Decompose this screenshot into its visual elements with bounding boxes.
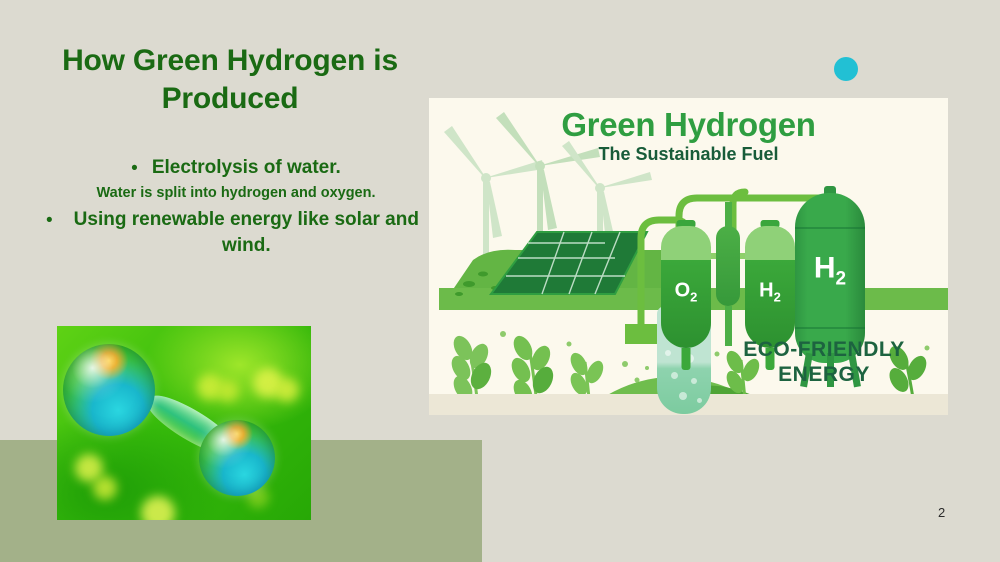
accent-dot — [834, 57, 858, 81]
tank-seam — [795, 227, 865, 229]
tank-stem — [682, 348, 691, 370]
mid-tank — [716, 226, 740, 306]
bullet-list: • Electrolysis of water. Water is split … — [46, 155, 426, 260]
tank-label: O2 — [661, 280, 711, 303]
molecule-sphere — [63, 344, 155, 436]
bullet-text: Using renewable energy like solar and wi… — [67, 207, 426, 258]
bullet-subtext: Water is split into hydrogen and oxygen. — [46, 184, 426, 204]
green-hydrogen-infographic: O2 H2 H2 Green Hydrogen The Sustainable … — [429, 98, 948, 415]
background-blob — [217, 380, 239, 402]
bubble — [671, 372, 678, 379]
infographic-tagline: ECO-FRIENDLY ENERGY — [729, 338, 919, 388]
bubble — [679, 392, 687, 400]
slide-canvas: How Green Hydrogen is Produced • Electro… — [0, 0, 1000, 562]
background-blob — [93, 476, 117, 500]
tagline-line-1: ECO-FRIENDLY — [729, 338, 919, 363]
tank-seam — [795, 327, 865, 329]
bullet-marker-icon: • — [131, 155, 138, 182]
infographic-subtitle: The Sustainable Fuel — [429, 144, 948, 165]
list-item: • Electrolysis of water. — [46, 155, 426, 182]
list-item: • Using renewable energy like solar and … — [46, 207, 426, 258]
page-title: How Green Hydrogen is Produced — [50, 42, 410, 117]
bubble — [691, 378, 697, 384]
bullet-marker-icon: • — [46, 207, 53, 234]
oxygen-tank: O2 — [661, 226, 711, 348]
page-number: 2 — [938, 505, 945, 520]
hydrogen-molecule-image — [57, 326, 311, 520]
bubble — [665, 350, 671, 356]
hydrogen-tank: H2 — [745, 226, 795, 348]
infographic-title: Green Hydrogen — [429, 106, 948, 144]
tagline-line-2: ENERGY — [729, 363, 919, 388]
molecule-sphere — [199, 420, 275, 496]
bullet-text: Electrolysis of water. — [152, 155, 341, 181]
tank-label: H2 — [745, 280, 795, 303]
background-blob — [275, 378, 299, 402]
bubble — [697, 398, 702, 403]
tank-label: H2 — [795, 254, 865, 289]
